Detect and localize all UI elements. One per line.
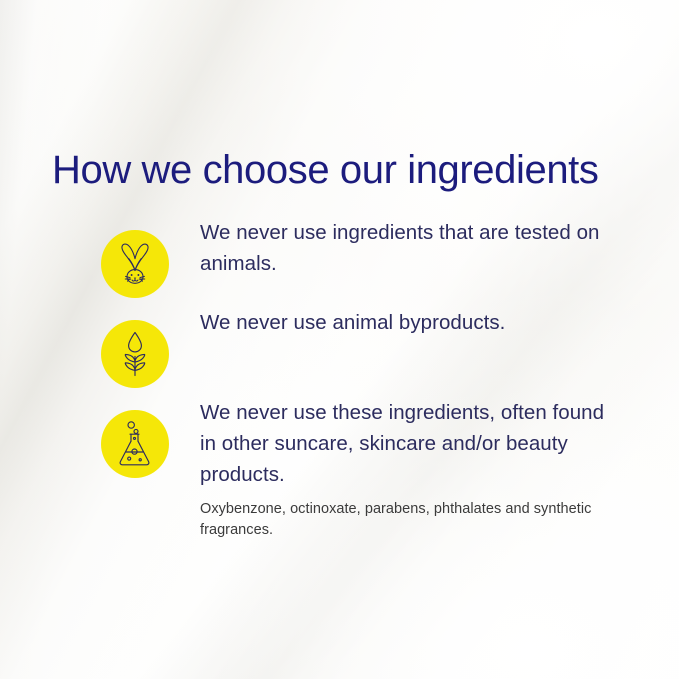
list-item: We never use these ingredients, often fo… (0, 398, 679, 558)
infographic-canvas: How we choose our ingredients (0, 0, 679, 679)
list-item-text-wrap: We never use these ingredients, often fo… (200, 398, 610, 542)
list-item-text: We never use these ingredients, often fo… (200, 398, 610, 490)
list-item-text-wrap: We never use ingredients that are tested… (200, 218, 610, 280)
page-title: How we choose our ingredients (52, 147, 599, 193)
list-item: We never use ingredients that are tested… (0, 218, 679, 308)
list-item: We never use animal byproducts. (0, 308, 679, 398)
icon-badge-cruelty-free (101, 230, 169, 298)
list-item-subtext: Oxybenzone, octinoxate, parabens, phthal… (200, 499, 610, 541)
icon-badge-no-animal-byproducts (101, 320, 169, 388)
ingredient-principles-list: We never use ingredients that are tested… (0, 218, 679, 558)
flask-bubbles-icon (114, 420, 156, 468)
bunny-heart-ears-icon (113, 241, 157, 287)
list-item-text-wrap: We never use animal byproducts. (200, 308, 610, 339)
list-item-text: We never use animal byproducts. (200, 308, 610, 339)
icon-badge-no-harmful-ingredients (101, 410, 169, 478)
list-item-text: We never use ingredients that are tested… (200, 218, 610, 280)
plant-droplet-icon (115, 330, 155, 378)
infographic-content: How we choose our ingredients (0, 0, 679, 679)
